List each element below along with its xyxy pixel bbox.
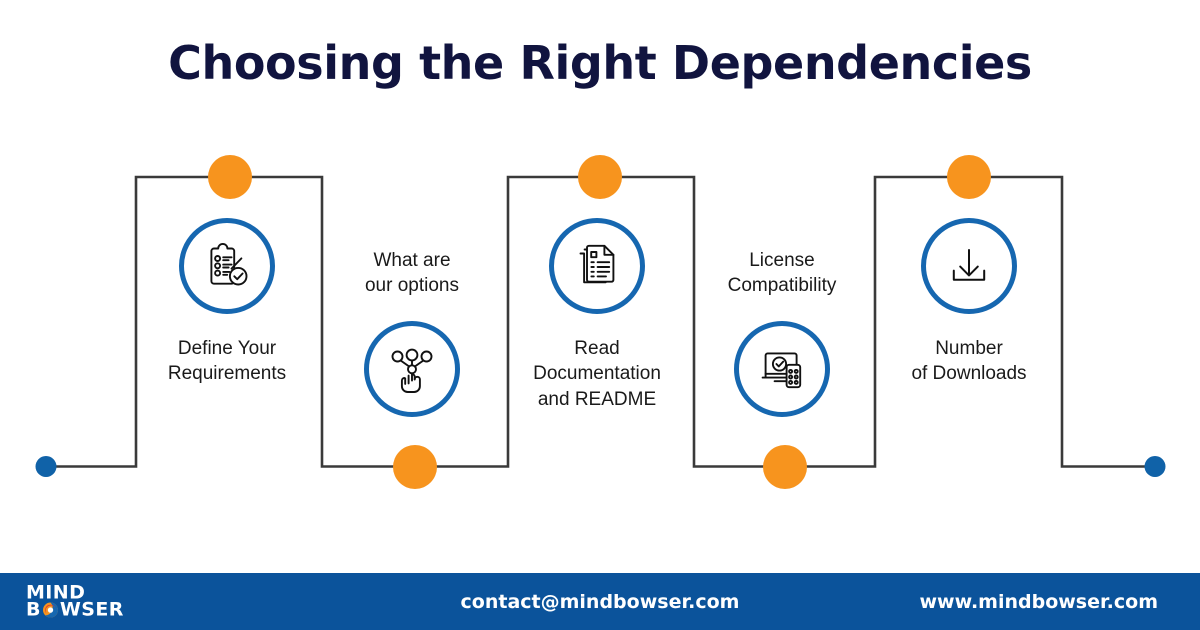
step-2[interactable]: What are our options [312, 248, 512, 417]
step-4-label: License Compatibility [728, 248, 837, 299]
step-marker-4 [763, 445, 807, 489]
laptop-phone-check-icon [734, 321, 830, 417]
step-3-label: Read Documentation and README [533, 336, 661, 412]
step-marker-2 [393, 445, 437, 489]
documents-stack-icon [549, 218, 645, 314]
step-1[interactable]: Define Your Requirements [127, 218, 327, 387]
footer-website[interactable]: www.mindbowser.com [920, 591, 1159, 613]
step-4[interactable]: License Compatibility [682, 248, 882, 417]
step-marker-1 [208, 155, 252, 199]
step-3[interactable]: Read Documentation and README [497, 218, 697, 412]
step-1-label: Define Your Requirements [168, 336, 286, 387]
step-5-label: Number of Downloads [911, 336, 1026, 387]
step-5[interactable]: Number of Downloads [869, 218, 1069, 387]
step-marker-3 [578, 155, 622, 199]
step-marker-5 [947, 155, 991, 199]
step-2-label: What are our options [365, 248, 459, 299]
footer-bar: MIND B WSER contact@mindbowser.com www.m… [0, 573, 1200, 630]
clipboard-checklist-icon [179, 218, 275, 314]
right-endpoint-dot [1145, 456, 1166, 477]
infographic-canvas: Choosing the Right Dependencies [0, 0, 1200, 630]
hand-pointing-options-icon [364, 321, 460, 417]
left-endpoint-dot [36, 456, 57, 477]
download-arrow-icon [921, 218, 1017, 314]
